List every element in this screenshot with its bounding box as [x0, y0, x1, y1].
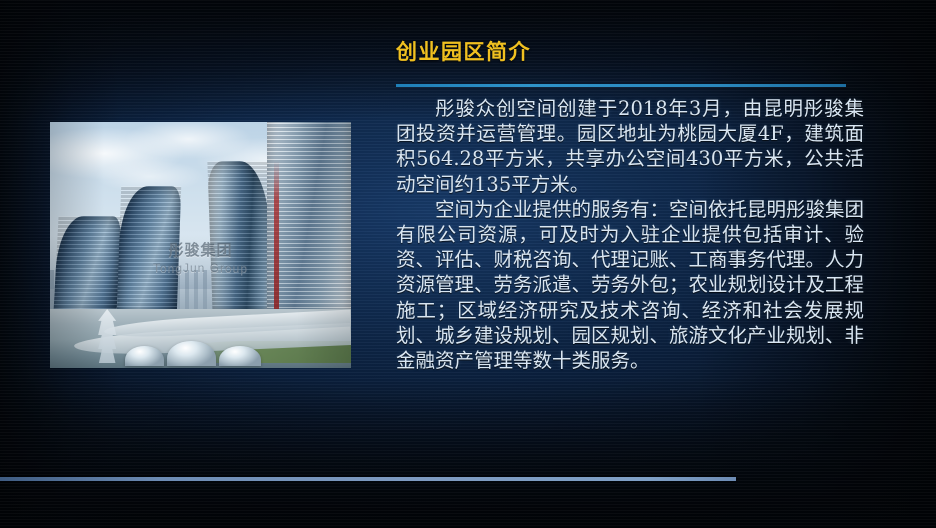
- slide-canvas: 彤骏集团 TongJun Group 创业园区简介 彤骏众创空间创建于2018年…: [0, 0, 936, 528]
- page-title: 创业园区简介: [396, 36, 531, 66]
- office-towers-photo: 彤骏集团 TongJun Group: [50, 122, 351, 368]
- paragraph-intro: 彤骏众创空间创建于2018年3月，由昆明彤骏集团投资并运营管理。园区地址为桃园大…: [396, 96, 864, 197]
- bottom-decorative-rule: [0, 477, 736, 481]
- paragraph-services: 空间为企业提供的服务有：空间依托昆明彤骏集团有限公司资源，可及时为入驻企业提供包…: [396, 197, 864, 373]
- body-text-block: 彤骏众创空间创建于2018年3月，由昆明彤骏集团投资并运营管理。园区地址为桃园大…: [396, 96, 864, 373]
- photo-edge-shading: [50, 122, 351, 368]
- title-underline-rule: [396, 84, 846, 87]
